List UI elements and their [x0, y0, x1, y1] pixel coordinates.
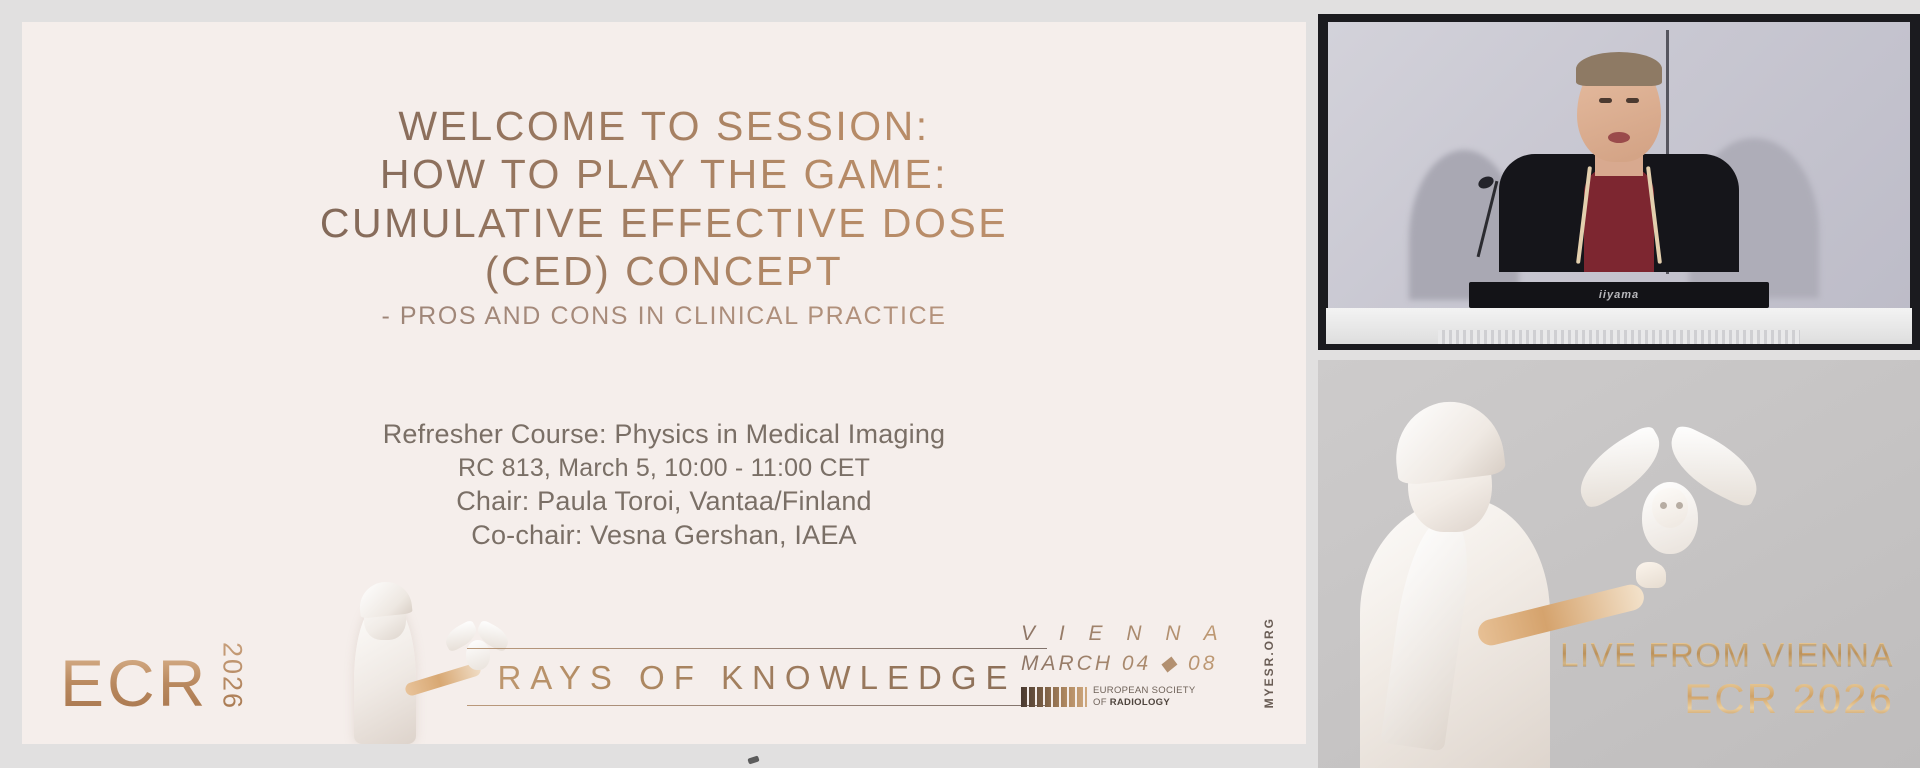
- speaker-mouth: [1608, 132, 1630, 143]
- presentation-slide[interactable]: WELCOME TO SESSION: HOW TO PLAY THE GAME…: [22, 22, 1306, 744]
- course-schedule: RC 813, March 5, 10:00 - 11:00 CET: [22, 452, 1306, 484]
- podium-monitor: iiyama: [1469, 282, 1769, 308]
- statue-helmet-large: [1390, 396, 1507, 487]
- website-url: MYESR.ORG: [1262, 617, 1276, 708]
- speaker-hair: [1576, 52, 1662, 86]
- brand-text-block: LIVE FROM VIENNA ECR 2026: [1560, 636, 1894, 722]
- slide-details-block: Refresher Course: Physics in Medical Ima…: [22, 417, 1306, 553]
- ecr-logo: ECR 2026: [60, 642, 247, 714]
- title-line-4: (CED) CONCEPT: [22, 247, 1306, 295]
- mouse-cursor: [747, 755, 759, 764]
- esr-wordmark-icon: [1021, 687, 1087, 707]
- ecr-logo-letters: ECR: [60, 653, 208, 714]
- statue-body: [354, 604, 416, 744]
- course-name: Refresher Course: Physics in Medical Ima…: [22, 417, 1306, 452]
- slide-title-block: WELCOME TO SESSION: HOW TO PLAY THE GAME…: [22, 102, 1306, 331]
- esr-society-text: EUROPEAN SOCIETY OF RADIOLOGY: [1093, 685, 1195, 708]
- speaker-eye-right: [1626, 98, 1639, 103]
- venue-dates: MARCH 04 ◆ 08: [1021, 651, 1236, 676]
- owl-eye-right: [1676, 502, 1683, 509]
- esr-logo: EUROPEAN SOCIETY OF RADIOLOGY: [1021, 685, 1236, 708]
- monitor-brand-label: iiyama: [1599, 289, 1639, 301]
- tagline-block: RAYS OF KNOWLEDGE: [467, 648, 1047, 706]
- venue-block: V I E N N A MARCH 04 ◆ 08 EUROPEAN SOCIE…: [1021, 622, 1236, 708]
- owl-face: [1652, 488, 1688, 528]
- live-from-vienna-text: LIVE FROM VIENNA: [1560, 636, 1894, 675]
- speaker-shirt: [1584, 167, 1654, 272]
- title-line-2: HOW TO PLAY THE GAME:: [22, 150, 1306, 198]
- stream-layout: WELCOME TO SESSION: HOW TO PLAY THE GAME…: [0, 0, 1920, 768]
- tagline-rule-bottom: [467, 705, 1047, 706]
- ecr-logo-year: 2026: [216, 642, 247, 710]
- chair-name: Chair: Paula Toroi, Vantaa/Finland: [22, 484, 1306, 519]
- owl-eye-left: [1660, 502, 1667, 509]
- lectern-trim: [1438, 330, 1800, 344]
- title-subtitle: - PROS AND CONS IN CLINICAL PRACTICE: [22, 302, 1306, 331]
- brand-panel: LIVE FROM VIENNA ECR 2026: [1318, 360, 1920, 768]
- title-line-1: WELCOME TO SESSION:: [22, 102, 1306, 150]
- speaker-figure: [1494, 72, 1744, 272]
- tagline-text: RAYS OF KNOWLEDGE: [467, 649, 1047, 705]
- ecr-2026-text: ECR 2026: [1560, 675, 1894, 722]
- title-line-3: CUMULATIVE EFFECTIVE DOSE: [22, 199, 1306, 247]
- cochair-name: Co-chair: Vesna Gershan, IAEA: [22, 518, 1306, 553]
- speaker-video-feed[interactable]: iiyama: [1318, 14, 1920, 350]
- esr-line-2-bold: RADIOLOGY: [1110, 697, 1170, 708]
- speaker-eye-left: [1599, 98, 1612, 103]
- statue-helmet: [357, 579, 412, 618]
- slide-content: WELCOME TO SESSION: HOW TO PLAY THE GAME…: [22, 22, 1306, 744]
- slide-footer: ECR 2026 RAYS OF KNOWLEDGE: [22, 564, 1306, 744]
- owl-icon-large: [1576, 442, 1756, 572]
- statue-head: [364, 588, 406, 640]
- right-column: iiyama LIVE FROM: [1318, 0, 1920, 768]
- venue-city: V I E N N A: [1021, 622, 1236, 646]
- esr-line-1: EUROPEAN SOCIETY: [1093, 685, 1195, 696]
- tagline-rule-top: [467, 648, 1047, 649]
- esr-line-2-prefix: OF: [1093, 697, 1110, 708]
